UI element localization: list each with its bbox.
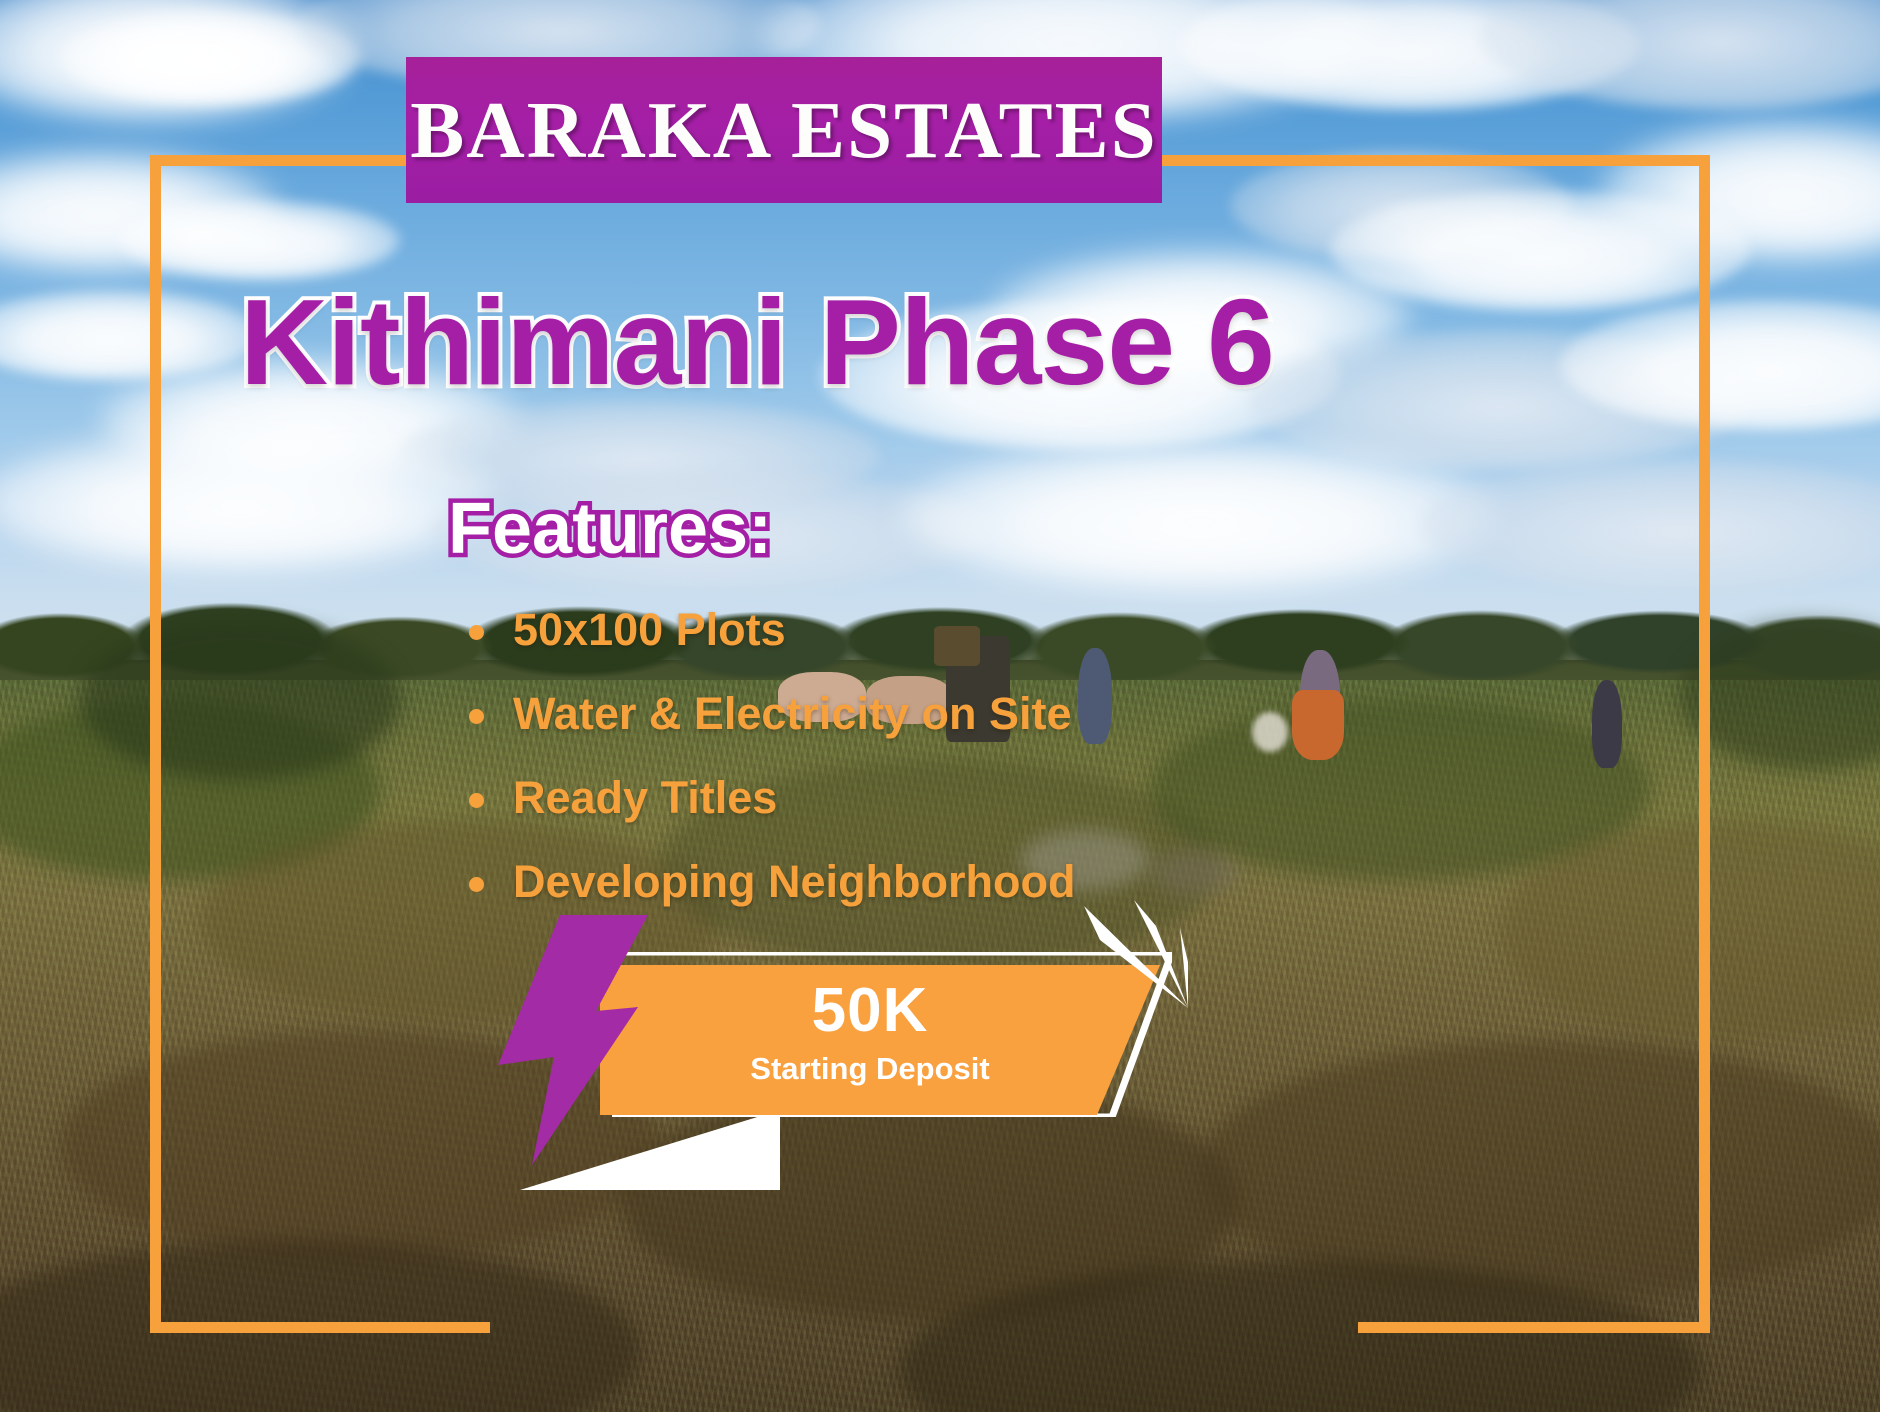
frame-border-right [1699,155,1710,1333]
frame-border-bottom-left [150,1322,490,1333]
promotional-poster: BARAKA ESTATES Kithimani Phase 6 Feature… [0,0,1880,1412]
person-silhouette [1292,690,1344,760]
features-heading: Features: [448,488,772,570]
cloud [0,430,500,570]
page-title: Kithimani Phase 6 [240,272,1360,412]
list-item: Developing Neighborhood [455,846,1075,918]
feature-label: Water & Electricity on Site [513,688,1071,739]
rock [1252,712,1288,752]
brand-title: BARAKA ESTATES [410,84,1157,177]
person-silhouette [1592,680,1622,768]
frame-border-bottom-right [1358,1322,1710,1333]
cloud [120,200,400,280]
list-item: 50x100 Plots [455,594,1075,666]
feature-label: Developing Neighborhood [513,856,1075,907]
feature-label: 50x100 Plots [513,604,786,655]
features-list: 50x100 Plots Water & Electricity on Site… [455,594,1075,930]
header-banner: BARAKA ESTATES [406,57,1162,203]
grass-patch [80,620,400,780]
frame-border-left [150,155,161,1333]
list-item: Ready Titles [455,762,1075,834]
lightning-bolt-icon [488,915,648,1165]
grass-patch [1150,850,1240,895]
burst-rays-icon [1060,900,1190,1010]
feature-label: Ready Titles [513,772,777,823]
person-silhouette [1078,648,1112,744]
list-item: Water & Electricity on Site [455,678,1075,750]
